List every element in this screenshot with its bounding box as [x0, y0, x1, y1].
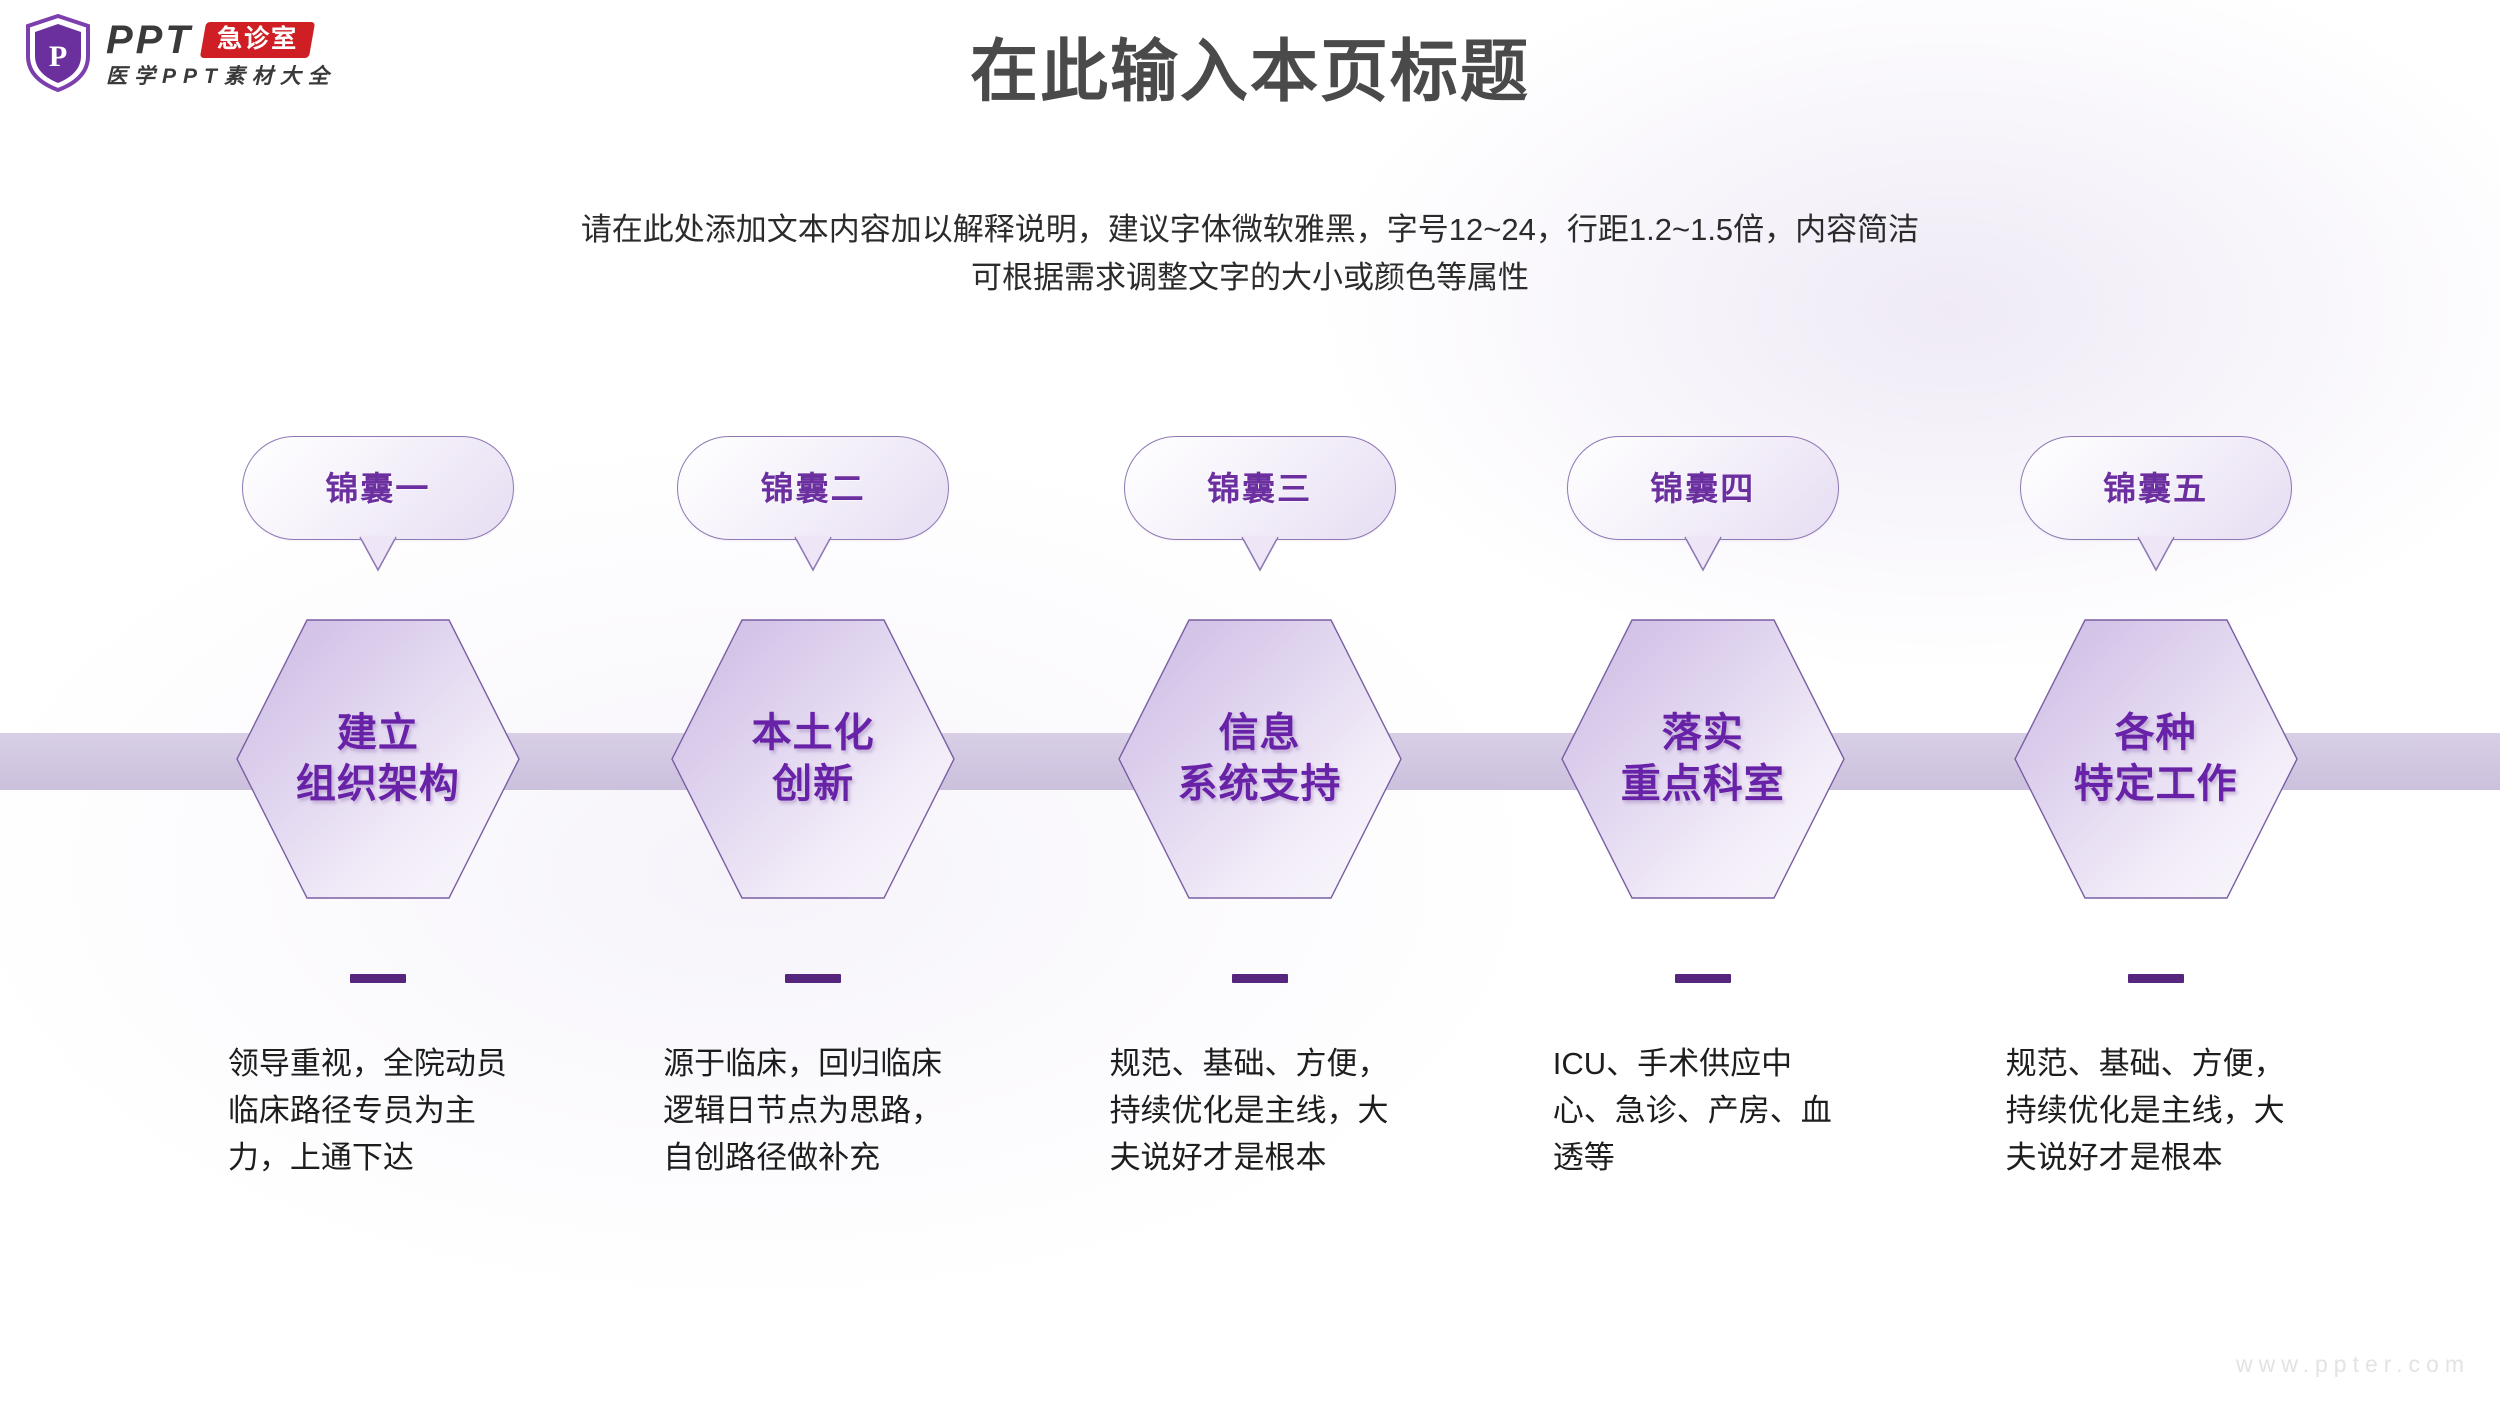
- hexagon-label: 信息 系统支持: [1178, 708, 1342, 810]
- badge-pill[interactable]: 锦囊四: [1567, 436, 1839, 540]
- badge-pill[interactable]: 锦囊五: [2020, 436, 2292, 540]
- hexagon-shape[interactable]: 各种 特定工作: [2014, 618, 2298, 900]
- badge-label: 锦囊三: [1207, 472, 1312, 505]
- site-watermark: www.ppter.com: [2236, 1351, 2470, 1378]
- step-badge-3[interactable]: 锦囊三: [1124, 436, 1396, 540]
- hexagon-shape[interactable]: 落实 重点科室: [1561, 618, 1845, 900]
- hexagon-label: 各种 特定工作: [2074, 708, 2238, 810]
- step-badge-1[interactable]: 锦囊一: [242, 436, 514, 540]
- step-body-text: 源于临床，回归临床逻辑日节点为思路，自创路径做补充: [663, 1040, 963, 1181]
- step-divider-dash: [1675, 974, 1731, 983]
- badge-tail-icon: [1683, 536, 1723, 572]
- badge-tail-icon: [2136, 536, 2176, 572]
- badge-pill[interactable]: 锦囊二: [677, 436, 949, 540]
- step-divider-dash: [2128, 974, 2184, 983]
- hexagon-shape[interactable]: 本土化 创新: [671, 618, 955, 900]
- step-hexagon-4[interactable]: 落实 重点科室: [1561, 618, 1845, 900]
- step-divider-dash: [350, 974, 406, 983]
- step-body-text: 规范、基础、方便，持续优化是主线，大夫说好才是根本: [1110, 1040, 1410, 1181]
- steps-container: 锦囊一: [0, 0, 2500, 1406]
- step-body-text: ICU、手术供应中心、急诊、产房、血透等: [1553, 1040, 1853, 1181]
- step-body-text: 规范、基础、方便，持续优化是主线，大夫说好才是根本: [2006, 1040, 2306, 1181]
- badge-label: 锦囊四: [1650, 472, 1755, 505]
- hexagon-shape[interactable]: 建立 组织架构: [236, 618, 520, 900]
- step-badge-4[interactable]: 锦囊四: [1567, 436, 1839, 540]
- step-divider-dash: [1232, 974, 1288, 983]
- badge-tail-icon: [1240, 536, 1280, 572]
- step-body-text: 领导重视，全院动员临床路径专员为主力，上通下达: [228, 1040, 528, 1181]
- badge-tail-icon: [793, 536, 833, 572]
- step-hexagon-1[interactable]: 建立 组织架构: [236, 618, 520, 900]
- hexagon-label: 本土化 创新: [752, 708, 875, 810]
- step-hexagon-3[interactable]: 信息 系统支持: [1118, 618, 1402, 900]
- badge-label: 锦囊一: [325, 472, 430, 505]
- step-badge-5[interactable]: 锦囊五: [2020, 436, 2292, 540]
- badge-label: 锦囊五: [2103, 472, 2208, 505]
- hexagon-label: 落实 重点科室: [1621, 708, 1785, 810]
- step-divider-dash: [785, 974, 841, 983]
- badge-label: 锦囊二: [761, 472, 866, 505]
- step-hexagon-2[interactable]: 本土化 创新: [671, 618, 955, 900]
- badge-pill[interactable]: 锦囊一: [242, 436, 514, 540]
- step-hexagon-5[interactable]: 各种 特定工作: [2014, 618, 2298, 900]
- badge-tail-icon: [358, 536, 398, 572]
- badge-pill[interactable]: 锦囊三: [1124, 436, 1396, 540]
- hexagon-label: 建立 组织架构: [296, 708, 460, 810]
- hexagon-shape[interactable]: 信息 系统支持: [1118, 618, 1402, 900]
- step-badge-2[interactable]: 锦囊二: [677, 436, 949, 540]
